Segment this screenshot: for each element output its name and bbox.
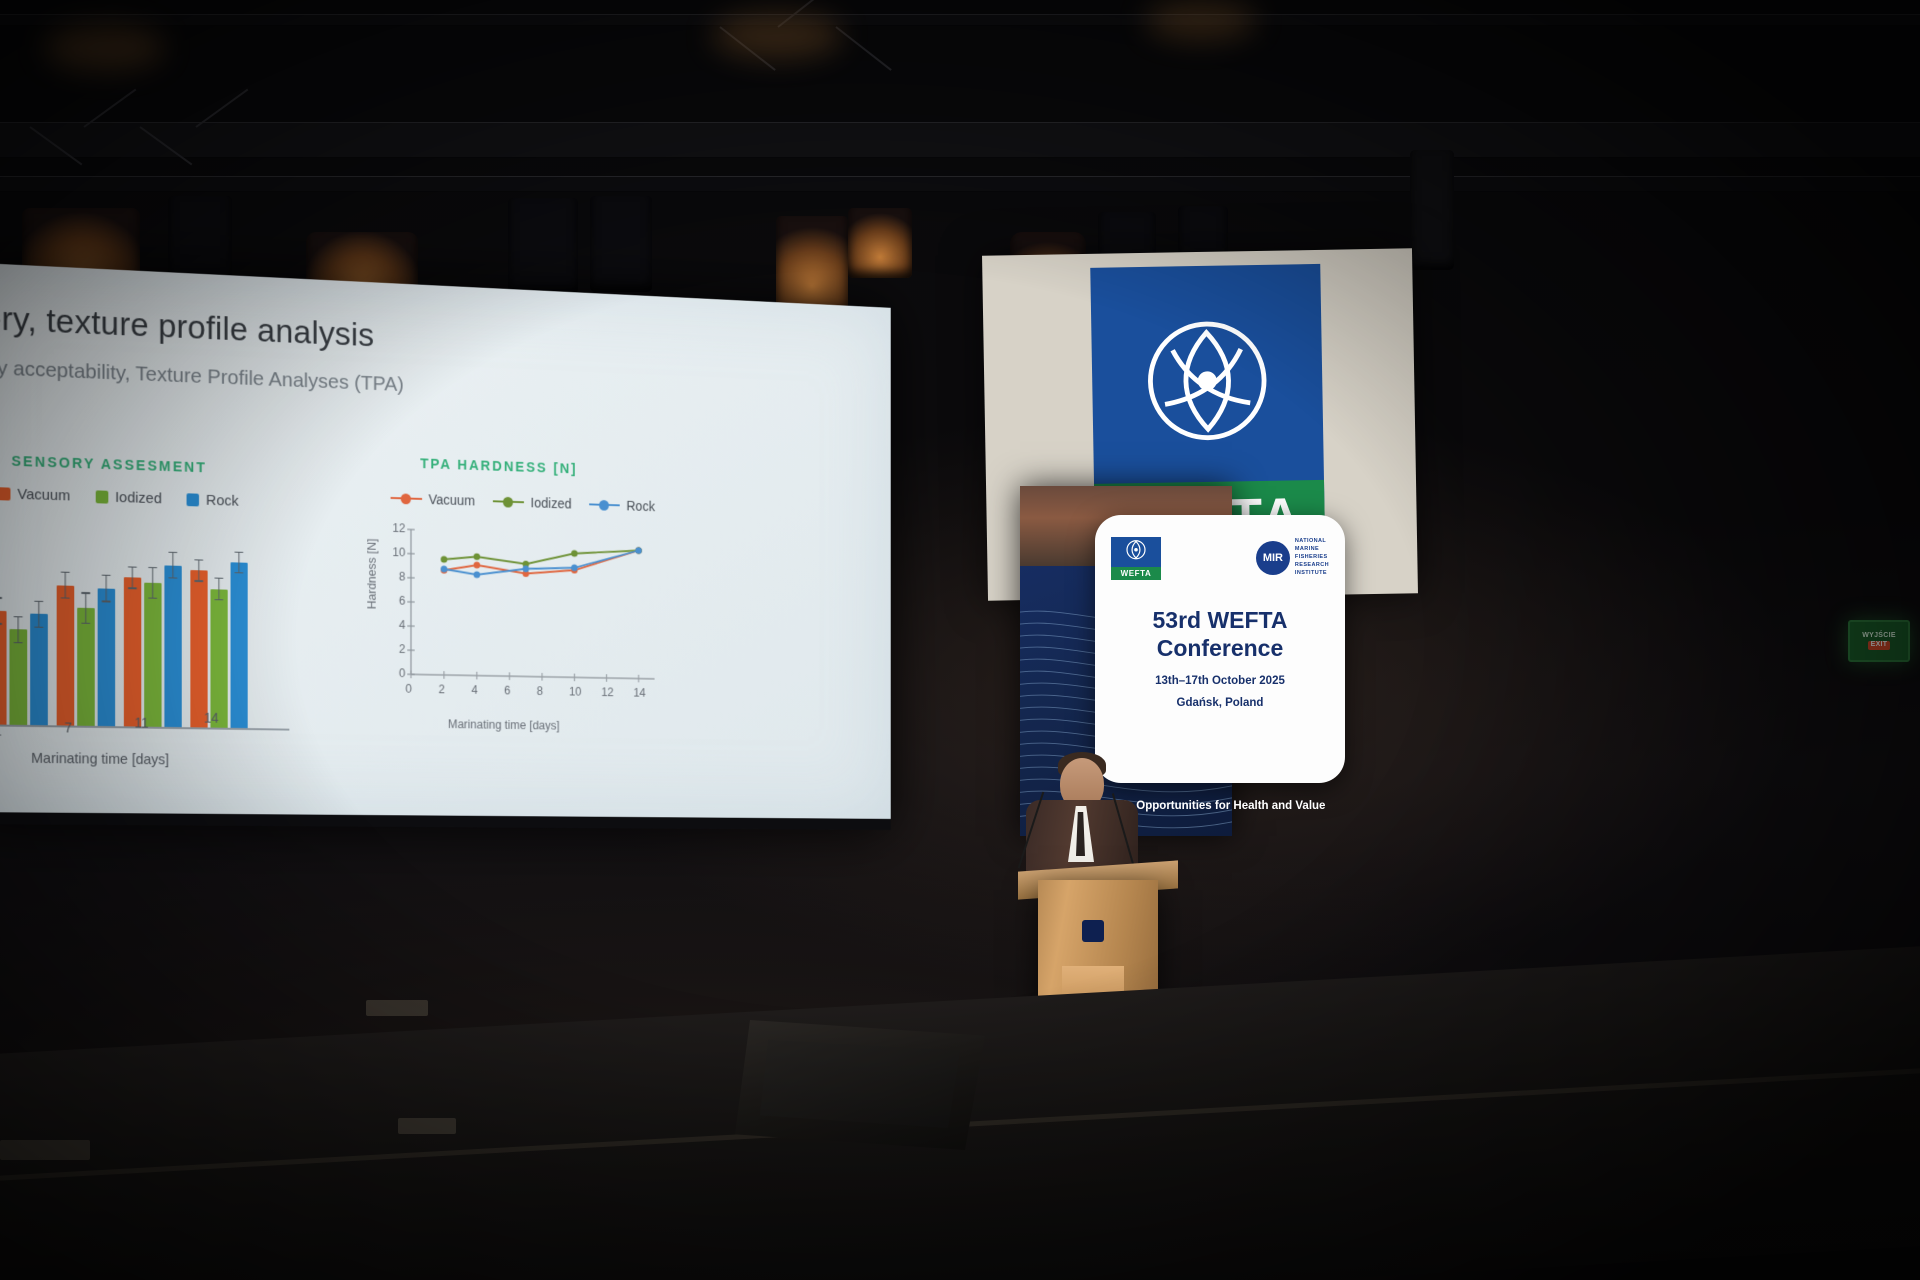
bar-iodized bbox=[77, 608, 95, 726]
line-chart-x-axis-title: Marinating time [days] bbox=[448, 717, 560, 732]
line-chart-y-tick-label: 6 bbox=[391, 594, 406, 608]
bar-rock bbox=[231, 562, 248, 728]
truss-upper-beam bbox=[0, 14, 1920, 26]
line-point-iodized bbox=[474, 553, 481, 560]
line-legend-marker-rock bbox=[590, 499, 621, 511]
line-chart-y-tick-label: 10 bbox=[391, 545, 406, 559]
stage-light-fixture bbox=[848, 208, 912, 278]
legend-item-rock: Rock bbox=[187, 491, 239, 509]
bar-chart-x-axis-title: Marinating time [days] bbox=[31, 751, 169, 768]
conference-dates: 13th–17th October 2025 bbox=[1095, 675, 1345, 687]
bar-iodized bbox=[210, 589, 227, 728]
stage-light-fixture bbox=[508, 198, 578, 294]
bar-x-tick: 14 bbox=[204, 710, 219, 726]
bar-vacuum bbox=[124, 578, 141, 727]
slide-subtitle: hod: Overal sensory acceptability, Textu… bbox=[0, 349, 404, 397]
sensory-bar-chart bbox=[0, 512, 289, 730]
wefta-logo-blue-field bbox=[1111, 537, 1161, 567]
line-chart-x-tick-label: 8 bbox=[537, 684, 543, 697]
stage-monitor-face bbox=[760, 1038, 960, 1128]
floor-access-plate bbox=[0, 1140, 90, 1160]
line-series-rock bbox=[444, 545, 639, 579]
line-chart-x-tick-label: 12 bbox=[601, 685, 613, 699]
sensory-chart-heading: SENSORY ASSESMENT bbox=[11, 454, 206, 476]
line-point-rock bbox=[474, 571, 481, 578]
bar-group bbox=[190, 561, 247, 728]
triquetra-icon-small bbox=[1116, 537, 1156, 567]
bar-vacuum bbox=[0, 611, 7, 725]
bar-x-tick: 4 bbox=[0, 724, 1, 740]
error-bar bbox=[238, 551, 239, 573]
tpa-line-chart: Hardness [N] 024681012 02468101214 Marin… bbox=[363, 511, 664, 738]
line-legend-label-iodized: Iodized bbox=[531, 495, 572, 512]
slide-title: sults: sensory, texture profile analysis bbox=[0, 291, 374, 355]
rollup-tagline: e Bio Opportunities for Health and Value bbox=[1105, 800, 1425, 812]
line-legend-item-iodized: Iodized bbox=[493, 494, 571, 512]
error-bar bbox=[65, 571, 66, 598]
line-chart-y-tick-label: 4 bbox=[391, 618, 406, 632]
line-chart-plot-area bbox=[363, 511, 664, 710]
exit-sign-line1: WYJŚCIE bbox=[1862, 632, 1896, 641]
stage-scene: sults: sensory, texture profile analysis… bbox=[0, 0, 1920, 1280]
legend-label-rock: Rock bbox=[206, 492, 239, 510]
stage-light-fixture bbox=[776, 216, 848, 316]
mir-institute-name: NATIONALMARINEFISHERIESRESEARCHINSTITUTE bbox=[1295, 538, 1329, 578]
error-bar bbox=[218, 578, 219, 600]
line-point-vacuum bbox=[474, 562, 481, 569]
line-legend-item-vacuum: Vacuum bbox=[391, 490, 475, 508]
line-legend-label-vacuum: Vacuum bbox=[429, 491, 475, 508]
line-chart-y-tick-label: 8 bbox=[391, 570, 406, 584]
legend-label-vacuum: Vacuum bbox=[17, 486, 70, 505]
wefta-logo-wordmark: WEFTA bbox=[1111, 567, 1161, 580]
bar-rock bbox=[164, 565, 181, 727]
line-chart-x-tick-label: 6 bbox=[504, 684, 510, 698]
conference-location: Gdańsk, Poland bbox=[1095, 697, 1345, 709]
line-legend-marker-vacuum bbox=[391, 492, 423, 505]
line-chart-y-tick-label: 0 bbox=[391, 666, 406, 680]
line-chart-legend: Vacuum Iodized Rock bbox=[391, 490, 655, 514]
legend-swatch-rock bbox=[187, 493, 199, 506]
error-bar bbox=[18, 616, 19, 643]
triquetra-fish-icon bbox=[1135, 309, 1279, 453]
error-bar bbox=[85, 592, 86, 624]
bar-group bbox=[124, 564, 182, 728]
floor-access-plate bbox=[398, 1118, 456, 1134]
truss-web bbox=[835, 26, 891, 71]
bar-chart-plot-area bbox=[0, 512, 289, 524]
error-bar bbox=[172, 552, 173, 579]
line-legend-item-rock: Rock bbox=[590, 497, 655, 514]
conference-info-card: WEFTA MIR NATIONALMARINEFISHERIESRESEARC… bbox=[1095, 515, 1345, 783]
line-point-iodized bbox=[571, 550, 578, 557]
lectern-emblem bbox=[1082, 920, 1104, 942]
line-chart-x-tick-label: 2 bbox=[438, 683, 444, 697]
exit-sign-line2: EXIT bbox=[1868, 641, 1891, 650]
mir-badge: MIR bbox=[1256, 541, 1290, 575]
bar-x-tick: 11 bbox=[135, 715, 149, 731]
error-bar bbox=[38, 600, 39, 627]
floor-access-plate bbox=[366, 1000, 428, 1016]
line-legend-label-rock: Rock bbox=[626, 498, 655, 514]
legend-swatch-iodized bbox=[96, 490, 109, 503]
line-chart-x-tick-label: 10 bbox=[569, 685, 582, 699]
legend-swatch-vacuum bbox=[0, 487, 10, 500]
line-series-iodized bbox=[444, 545, 639, 567]
bar-rock bbox=[30, 614, 48, 726]
lamp-glow bbox=[44, 24, 164, 70]
line-chart-y-tick-label: 12 bbox=[391, 521, 406, 535]
line-chart-x-tick-label: 0 bbox=[405, 682, 411, 696]
stage-light-fixture bbox=[1410, 150, 1454, 270]
error-bar bbox=[152, 567, 153, 599]
bar-vacuum bbox=[57, 585, 75, 726]
truss-main-beam bbox=[0, 122, 1920, 158]
truss-lower-beam bbox=[0, 176, 1920, 192]
bar-vacuum bbox=[190, 570, 207, 728]
bar-group bbox=[57, 585, 115, 727]
error-bar bbox=[198, 559, 199, 581]
stage-light-fixture bbox=[590, 196, 652, 292]
projection-screen: sults: sensory, texture profile analysis… bbox=[0, 262, 891, 830]
bar-iodized bbox=[9, 629, 27, 725]
presentation-slide: sults: sensory, texture profile analysis… bbox=[0, 262, 891, 819]
line-point-iodized bbox=[441, 556, 448, 563]
conference-title-line1: 53rd WEFTA bbox=[1095, 607, 1345, 634]
bar-iodized bbox=[144, 583, 161, 728]
lamp-glow bbox=[712, 12, 842, 58]
line-chart-x-axis bbox=[411, 674, 655, 679]
exit-sign: WYJŚCIE EXIT bbox=[1848, 620, 1910, 662]
bar-chart-legend: Vacuum Iodized Rock bbox=[0, 485, 239, 509]
line-chart-y-tick-label: 2 bbox=[391, 642, 406, 656]
tpa-chart-heading: TPA HARDNESS [N] bbox=[420, 456, 577, 477]
error-bar bbox=[106, 575, 107, 602]
legend-item-vacuum: Vacuum bbox=[0, 485, 70, 504]
line-chart-x-tick-label: 4 bbox=[471, 683, 477, 697]
conference-title-line2: Conference bbox=[1095, 635, 1345, 662]
line-legend-marker-iodized bbox=[493, 495, 524, 508]
wefta-logo-small: WEFTA bbox=[1111, 537, 1161, 580]
error-bar bbox=[132, 566, 133, 589]
bar-group bbox=[0, 611, 48, 726]
bar-rock bbox=[98, 588, 115, 726]
line-chart-x-tick-label: 14 bbox=[633, 686, 645, 699]
mir-logo: MIR NATIONALMARINEFISHERIESRESEARCHINSTI… bbox=[1256, 538, 1329, 578]
legend-item-iodized: Iodized bbox=[96, 488, 162, 507]
legend-label-iodized: Iodized bbox=[115, 489, 162, 507]
card-logo-row: WEFTA MIR NATIONALMARINEFISHERIESRESEARC… bbox=[1111, 535, 1329, 581]
bar-x-tick: 7 bbox=[64, 720, 72, 736]
line-point-rock bbox=[635, 547, 641, 554]
lamp-glow bbox=[1146, 0, 1256, 40]
